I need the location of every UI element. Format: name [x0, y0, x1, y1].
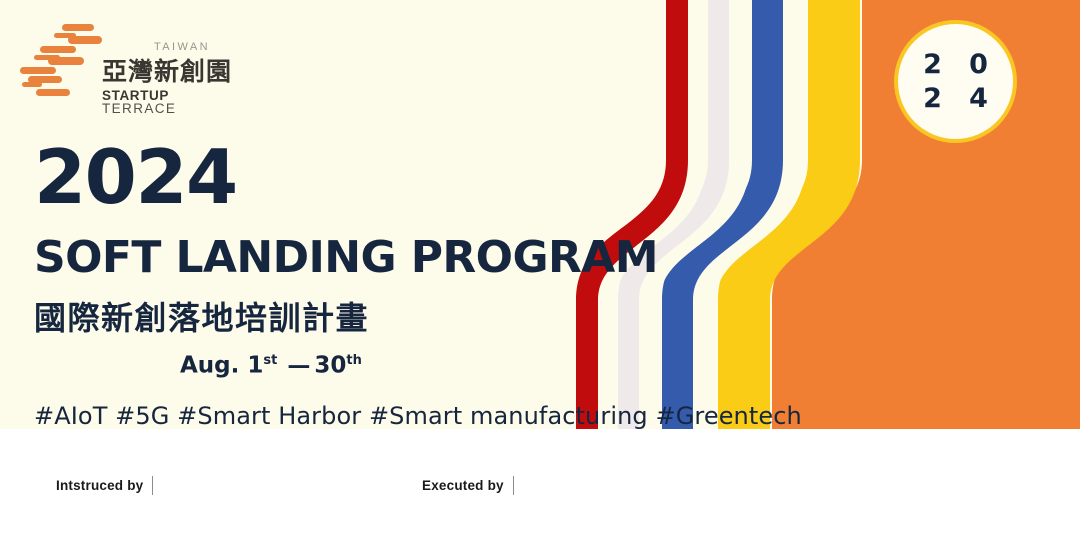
label-divider: [513, 476, 514, 495]
instruced-by-label: Intstruced by: [56, 476, 153, 495]
year-digit-1: 2: [923, 51, 942, 78]
brand-logo-name-en: STARTUP TERRACE: [102, 89, 232, 116]
brand-logo-name-cn: 亞灣新創園: [102, 58, 232, 86]
executed-by-text: Executed by: [422, 478, 504, 493]
year-digit-3: 2: [923, 85, 942, 112]
headline-year: 2024: [34, 140, 802, 215]
headline-block: 2024 SOFT LANDING PROGRAM 國際新創落地培訓計畫 Aug…: [34, 140, 802, 428]
date-month: Aug.: [180, 353, 239, 379]
date-dash: —: [287, 353, 310, 379]
instruced-by-text: Intstruced by: [56, 478, 143, 493]
year-badge: 2 0 2 4: [898, 24, 1013, 139]
brand-logo: TAIWAN 亞灣新創園 STARTUP TERRACE: [18, 20, 228, 110]
main-panel: 2 0 2 4: [0, 0, 1080, 429]
label-divider: [152, 476, 153, 495]
year-badge-digits: 2 0 2 4: [918, 50, 994, 114]
brand-logo-terrace: TERRACE: [102, 101, 176, 116]
footer-credits-bar: Intstruced by Executed by: [0, 429, 1080, 540]
year-digit-2: 0: [969, 51, 988, 78]
year-digit-4: 4: [969, 85, 988, 112]
subtitle-chinese: 國際新創落地培訓計畫: [34, 302, 802, 334]
date-start-suffix: st: [263, 353, 277, 368]
brand-logo-taiwan-label: TAIWAN: [154, 42, 232, 53]
brand-logo-text: TAIWAN 亞灣新創園 STARTUP TERRACE: [102, 42, 232, 116]
program-title: SOFT LANDING PROGRAM: [34, 236, 802, 280]
date-end-day: 30: [314, 353, 346, 379]
hashtag-line: #AIoT #5G #Smart Harbor #Smart manufactu…: [34, 404, 802, 428]
date-end-suffix: th: [346, 353, 361, 368]
banner-stage: 2 0 2 4: [0, 0, 1080, 540]
date-start-day: 1: [247, 353, 263, 379]
event-date: Aug. 1st—30th: [180, 354, 802, 378]
executed-by-label: Executed by: [422, 476, 514, 495]
